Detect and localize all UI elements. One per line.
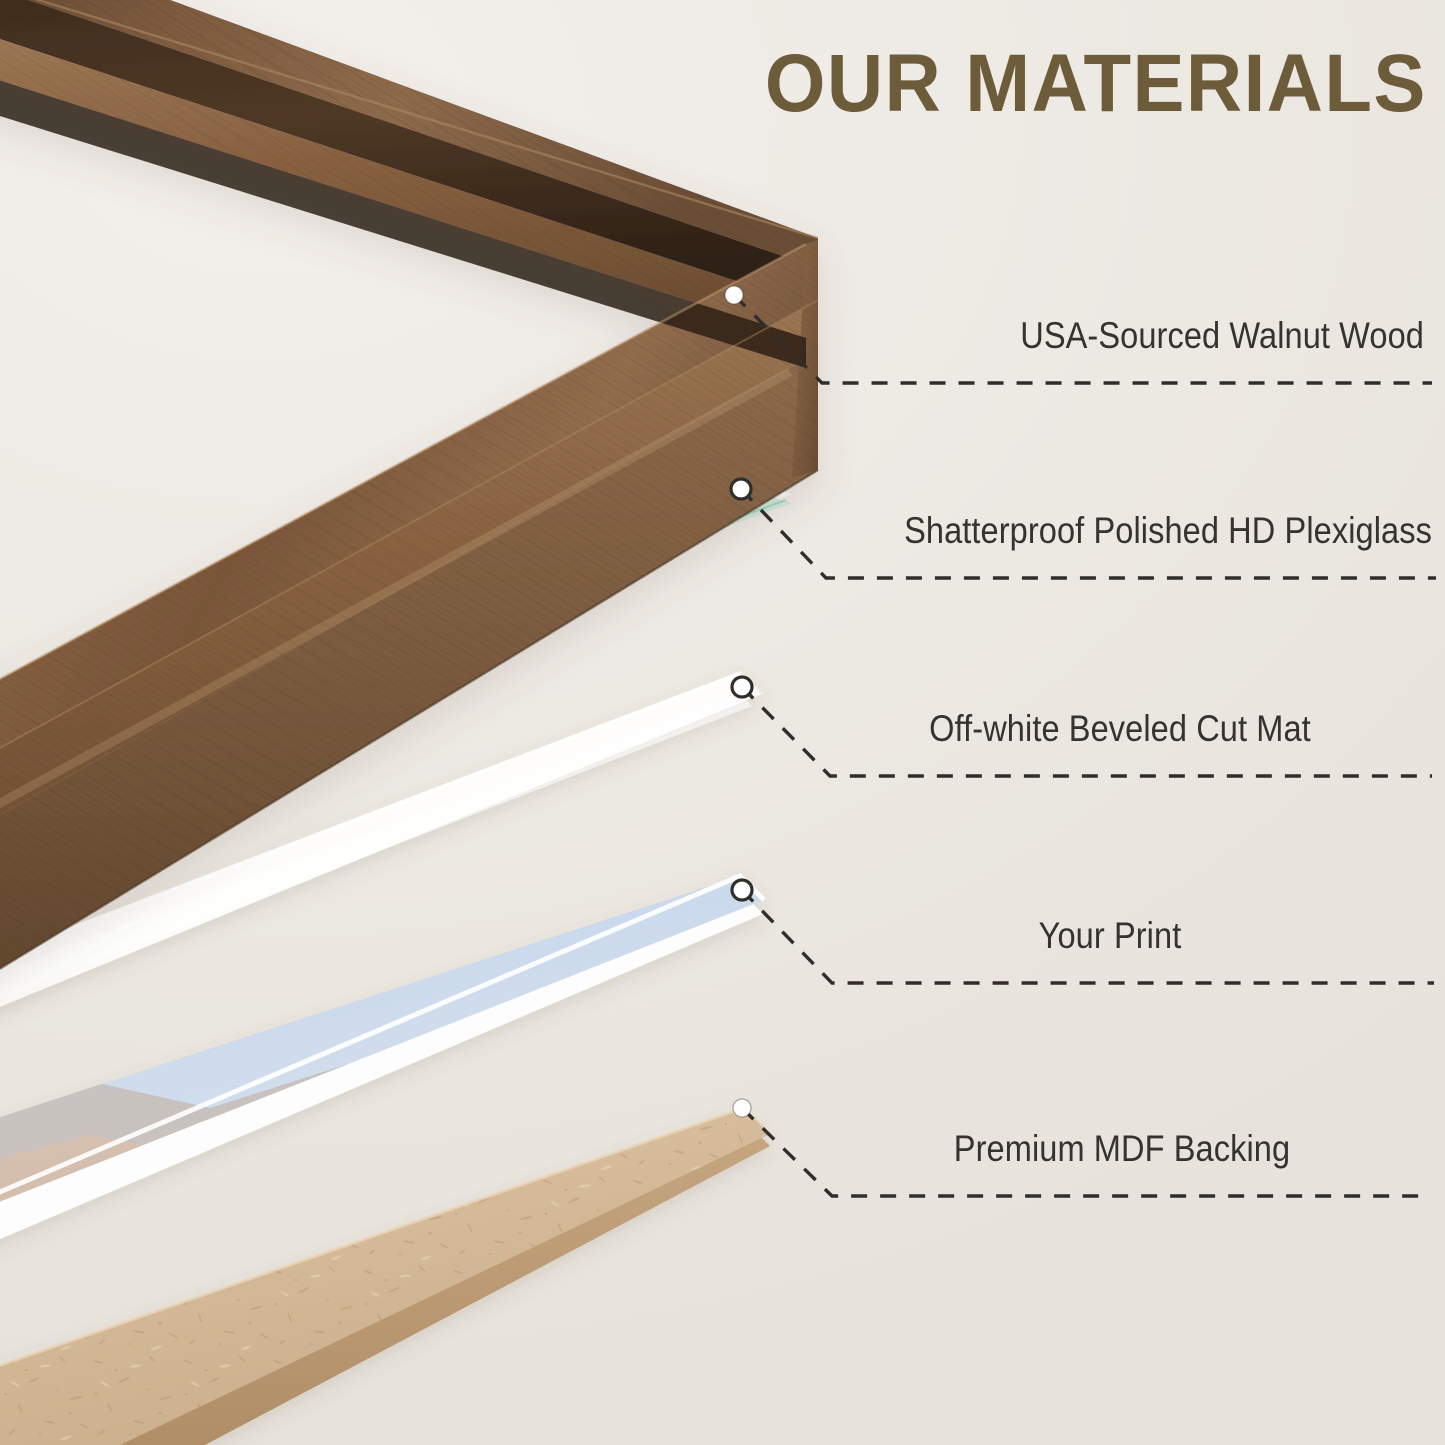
callout-label-mdf-backing: Premium MDF Backing bbox=[770, 1128, 1445, 1170]
callout-label-plexiglass: Shatterproof Polished HD Plexiglass bbox=[172, 510, 1432, 552]
callout-label-cut-mat: Off-white Beveled Cut Mat bbox=[768, 708, 1445, 750]
callout-label-walnut-wood: USA-Sourced Walnut Wood bbox=[171, 315, 1424, 357]
callout-label-group: USA-Sourced Walnut Wood Shatterproof Pol… bbox=[0, 0, 1445, 1445]
infographic-canvas: USA-Sourced Walnut Wood Shatterproof Pol… bbox=[0, 0, 1445, 1445]
page-title: OUR MATERIALS bbox=[765, 37, 1427, 131]
callout-label-your-print: Your Print bbox=[758, 915, 1445, 957]
